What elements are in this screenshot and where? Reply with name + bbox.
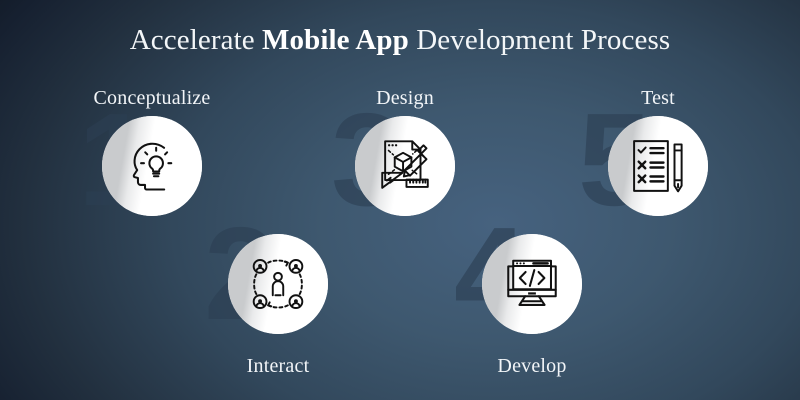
page-title: Accelerate Mobile App Development Proces… — [130, 22, 670, 58]
user-network-icon — [228, 234, 328, 334]
head-lightbulb-icon — [102, 116, 202, 216]
step-label-develop: Develop — [444, 354, 620, 378]
step-icon-circle-design[interactable] — [355, 116, 455, 216]
step-icon-circle-interact[interactable] — [228, 234, 328, 334]
page-title-part-bold: Mobile App — [262, 24, 409, 56]
page-title-part-3: Development Process — [409, 24, 670, 56]
step-icon-circle-conceptualize[interactable] — [102, 116, 202, 216]
checklist-pencil-icon — [608, 116, 708, 216]
step-label-interact: Interact — [190, 354, 366, 378]
blueprint-cube-ruler-pencil-icon — [355, 116, 455, 216]
step-icon-circle-develop[interactable] — [482, 234, 582, 334]
step-icon-circle-test[interactable] — [608, 116, 708, 216]
page-title-container: Accelerate Mobile App Development Proces… — [0, 22, 800, 58]
infographic-poster: Accelerate Mobile App Development Proces… — [0, 0, 800, 400]
page-title-part-1: Accelerate — [130, 24, 262, 56]
monitor-code-icon — [482, 234, 582, 334]
